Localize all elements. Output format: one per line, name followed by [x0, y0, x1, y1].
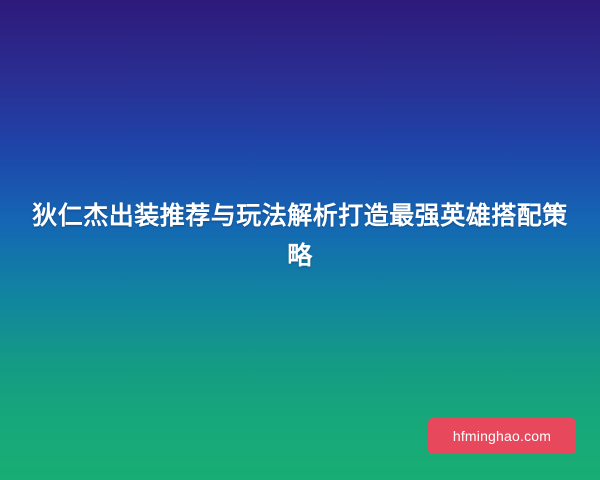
watermark-label: hfminghao.com	[453, 428, 551, 444]
watermark-badge: hfminghao.com	[428, 418, 576, 454]
banner-image: 狄仁杰出装推荐与玩法解析打造最强英雄搭配策略 hfminghao.com	[0, 0, 600, 480]
page-title: 狄仁杰出装推荐与玩法解析打造最强英雄搭配策略	[0, 196, 600, 276]
